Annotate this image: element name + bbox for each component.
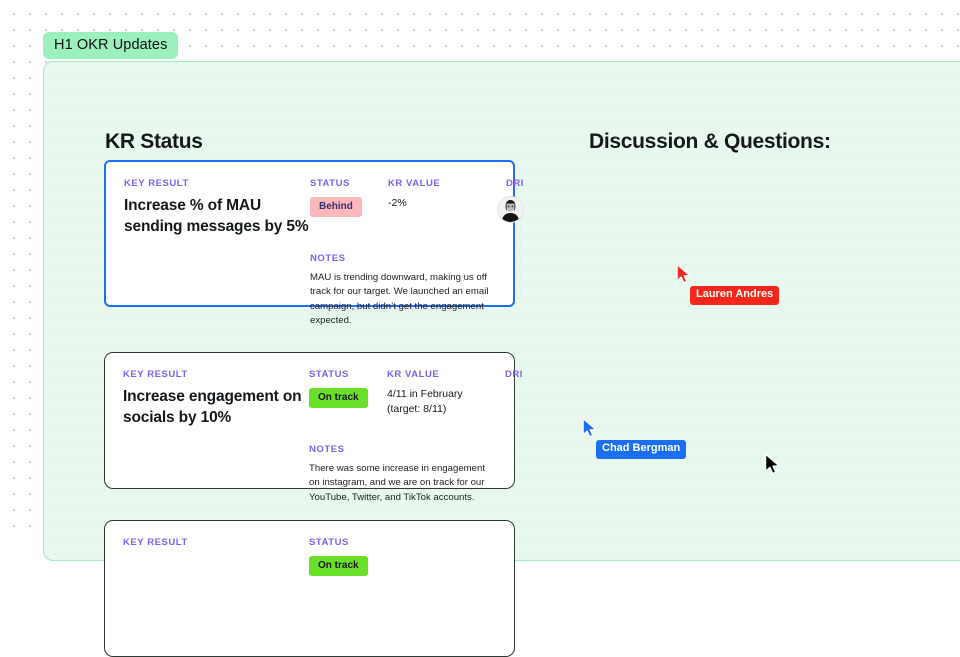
kr-status-heading: KR Status [105,130,203,154]
field-label-key-result: KEY RESULT [123,369,309,380]
field-label-kr-value: KR VALUE [388,178,480,189]
kr-title: Increase engagement on socials by 10% [123,387,309,429]
collab-cursor-lauren: Lauren Andres [676,264,779,305]
cursor-arrow-icon [676,264,692,284]
collab-cursor-name: Lauren Andres [690,286,779,305]
field-label-status: STATUS [309,537,387,548]
field-label-dri: DRI [479,369,523,380]
field-label-status: STATUS [309,369,387,380]
avatar[interactable] [497,196,524,223]
field-label-key-result: KEY RESULT [123,537,309,548]
mouse-pointer-icon [764,453,781,477]
kr-notes: There was some increase in engagement on… [309,462,496,506]
field-label-status: STATUS [310,178,388,189]
field-label-kr-value: KR VALUE [387,369,479,380]
kr-card[interactable]: KEY RESULT Increase % of MAU sending mes… [104,160,515,307]
status-badge[interactable]: Behind [310,197,362,217]
collab-cursor-chad: Chad Bergman [582,418,686,459]
collab-cursor-name: Chad Bergman [596,440,686,459]
status-badge[interactable]: On track [309,388,368,408]
frame-title-chip[interactable]: H1 OKR Updates [43,32,178,59]
kr-card[interactable]: KEY RESULT STATUS On track [104,520,515,657]
kr-notes: MAU is trending downward, making us off … [310,271,495,329]
field-label-notes: NOTES [309,444,496,455]
kr-title: Increase % of MAU sending messages by 5% [124,196,310,238]
kr-value: -2% [388,196,480,211]
status-badge[interactable]: On track [309,556,368,576]
cursor-arrow-icon [582,418,598,438]
field-label-notes: NOTES [310,253,495,264]
kr-card[interactable]: KEY RESULT Increase engagement on social… [104,352,515,489]
kr-value: 4/11 in February (target: 8/11) [387,387,479,417]
discussion-heading: Discussion & Questions: [589,130,831,154]
field-label-dri: DRI [480,178,524,189]
field-label-key-result: KEY RESULT [124,178,310,189]
